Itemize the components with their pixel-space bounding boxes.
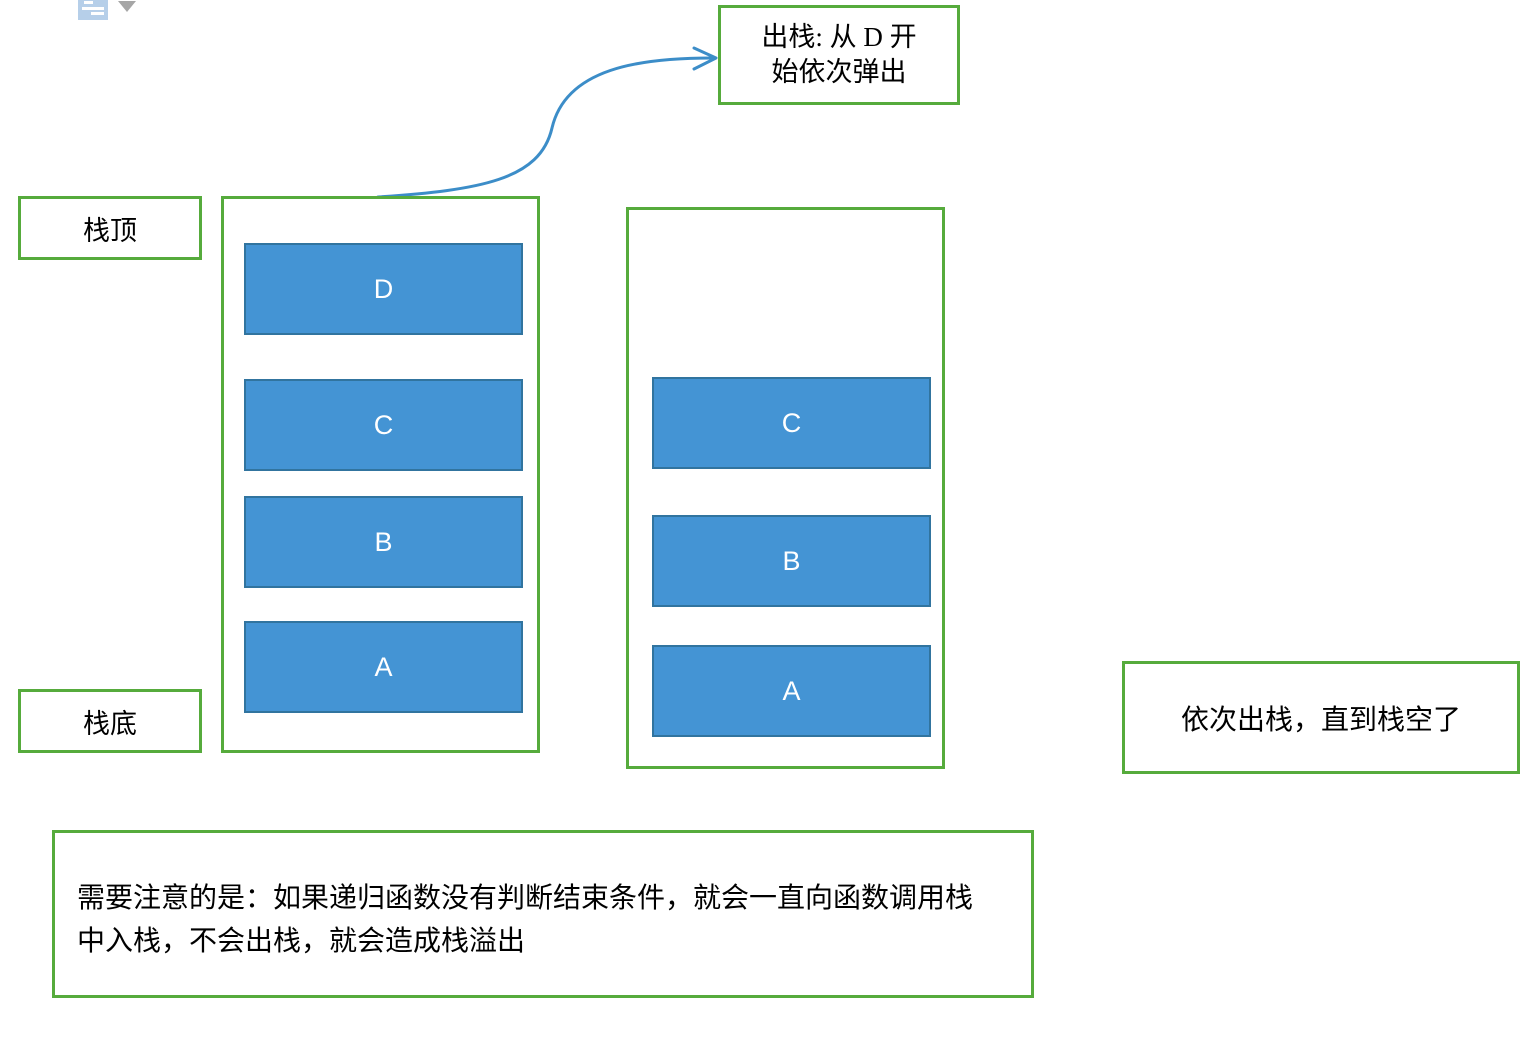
- note-line-1: 需要注意的是：如果递归函数没有判断结束条件，就会一直向函数调用栈: [77, 877, 1009, 920]
- stack-frame: D: [244, 243, 523, 335]
- doc-icon-line-2: [84, 1, 93, 4]
- stack-overflow-note-box: 需要注意的是：如果递归函数没有判断结束条件，就会一直向函数调用栈 中入栈，不会出…: [52, 830, 1034, 998]
- call-stack-before: D C B A: [221, 196, 540, 753]
- stack-frame-label: A: [782, 676, 800, 707]
- doc-icon-line-4: [91, 12, 104, 15]
- stack-top-label: 栈顶: [83, 209, 137, 248]
- chevron-down-icon[interactable]: [118, 1, 136, 12]
- stack-frame: B: [652, 515, 931, 607]
- note-line-2: 中入栈，不会出栈，就会造成栈溢出: [77, 920, 1009, 963]
- stack-frame-label: C: [782, 408, 802, 439]
- stack-frame-label: C: [374, 410, 394, 441]
- stack-frame-label: D: [374, 274, 394, 305]
- stack-frame: A: [652, 645, 931, 737]
- stack-frame: C: [652, 377, 931, 469]
- call-stack-after: C B A: [626, 207, 945, 769]
- pop-note-line-1: 出栈: 从 D 开: [761, 20, 916, 55]
- toolbar-widget[interactable]: [78, 0, 136, 20]
- doc-icon-line-3: [82, 7, 104, 10]
- stack-frame-label: B: [374, 527, 392, 558]
- pop-note-box: 出栈: 从 D 开 始依次弹出: [718, 5, 960, 105]
- stack-frame: C: [244, 379, 523, 471]
- stack-bottom-label-box: 栈底: [18, 689, 202, 753]
- pop-until-empty-label: 依次出栈，直到栈空了: [1181, 698, 1461, 738]
- pop-until-empty-box: 依次出栈，直到栈空了: [1122, 661, 1520, 774]
- pop-note-line-2: 始依次弹出: [761, 55, 916, 90]
- stack-frame-label: B: [782, 546, 800, 577]
- document-layout-icon[interactable]: [78, 0, 108, 20]
- stack-bottom-label: 栈底: [83, 702, 137, 741]
- stack-frame: B: [244, 496, 523, 588]
- stack-frame-label: A: [374, 652, 392, 683]
- stack-frame: A: [244, 621, 523, 713]
- stack-top-label-box: 栈顶: [18, 196, 202, 260]
